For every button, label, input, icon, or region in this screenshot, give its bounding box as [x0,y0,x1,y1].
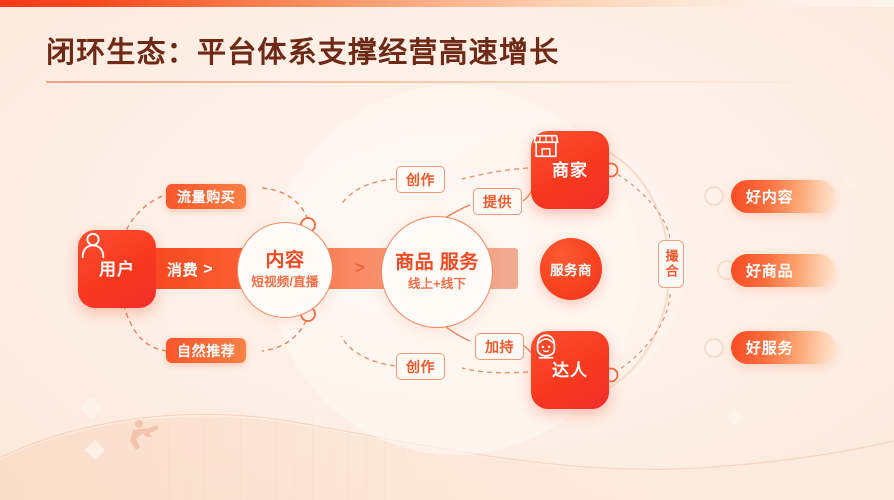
ecosystem-diagram: 用户 消费 > > 内容 短视频/直播 商品 服务 线上+线下 [0,0,894,500]
node-merchant[interactable]: 商家 [531,131,609,209]
label-create-top: 创作 [396,166,445,193]
user-icon [78,230,108,260]
chevron-right-icon-mid: > [355,258,365,278]
node-goods-sublabel: 线上+线下 [408,276,466,292]
node-influencer[interactable]: 达人 [531,331,609,409]
node-user[interactable]: 用户 [78,230,156,308]
label-matchmaking-text: 撮合 [662,249,681,279]
node-content-sublabel: 短视频/直播 [251,274,318,290]
label-support-text: 加持 [485,337,514,357]
influencer-icon [531,331,561,361]
node-service-provider[interactable]: 服务商 [540,238,602,300]
node-influencer-label: 达人 [552,361,588,380]
node-goods-services[interactable]: 商品 服务 线上+线下 [381,216,493,328]
label-provide: 提供 [473,188,522,215]
label-natural-recommend-text: 自然推荐 [177,341,235,361]
label-matchmaking: 撮合 [658,240,684,288]
outcome-good-products[interactable]: 好商品 [731,254,835,287]
outcome-good-products-label: 好商品 [731,260,793,281]
label-create-bottom-text: 创作 [406,357,435,377]
outcome-good-content-label: 好内容 [731,186,793,207]
node-merchant-label: 商家 [552,161,588,180]
shop-icon [531,131,561,161]
label-traffic-buy: 流量购买 [166,184,246,209]
label-traffic-buy-text: 流量购买 [177,187,235,207]
node-service-provider-label: 服务商 [550,259,592,279]
outcome-good-service[interactable]: 好服务 [731,331,835,364]
label-provide-text: 提供 [483,192,512,212]
flow-consume-label: 消费 [167,259,198,280]
node-goods-label: 商品 服务 [395,252,479,274]
label-create-bottom: 创作 [396,353,445,380]
node-content[interactable]: 内容 短视频/直播 [237,222,333,318]
node-content-label: 内容 [265,250,304,272]
label-create-top-text: 创作 [406,170,435,190]
outcome-good-service-label: 好服务 [731,337,793,358]
slide-root: 闭环生态：平台体系支撑经营高速增长 [0,0,894,500]
label-natural-recommend: 自然推荐 [166,338,246,363]
outcome-good-content[interactable]: 好内容 [731,180,835,213]
label-support: 加持 [475,333,524,360]
chevron-right-icon: > [203,261,213,279]
flow-consume: 消费 > [167,259,213,280]
node-user-label: 用户 [99,260,135,279]
